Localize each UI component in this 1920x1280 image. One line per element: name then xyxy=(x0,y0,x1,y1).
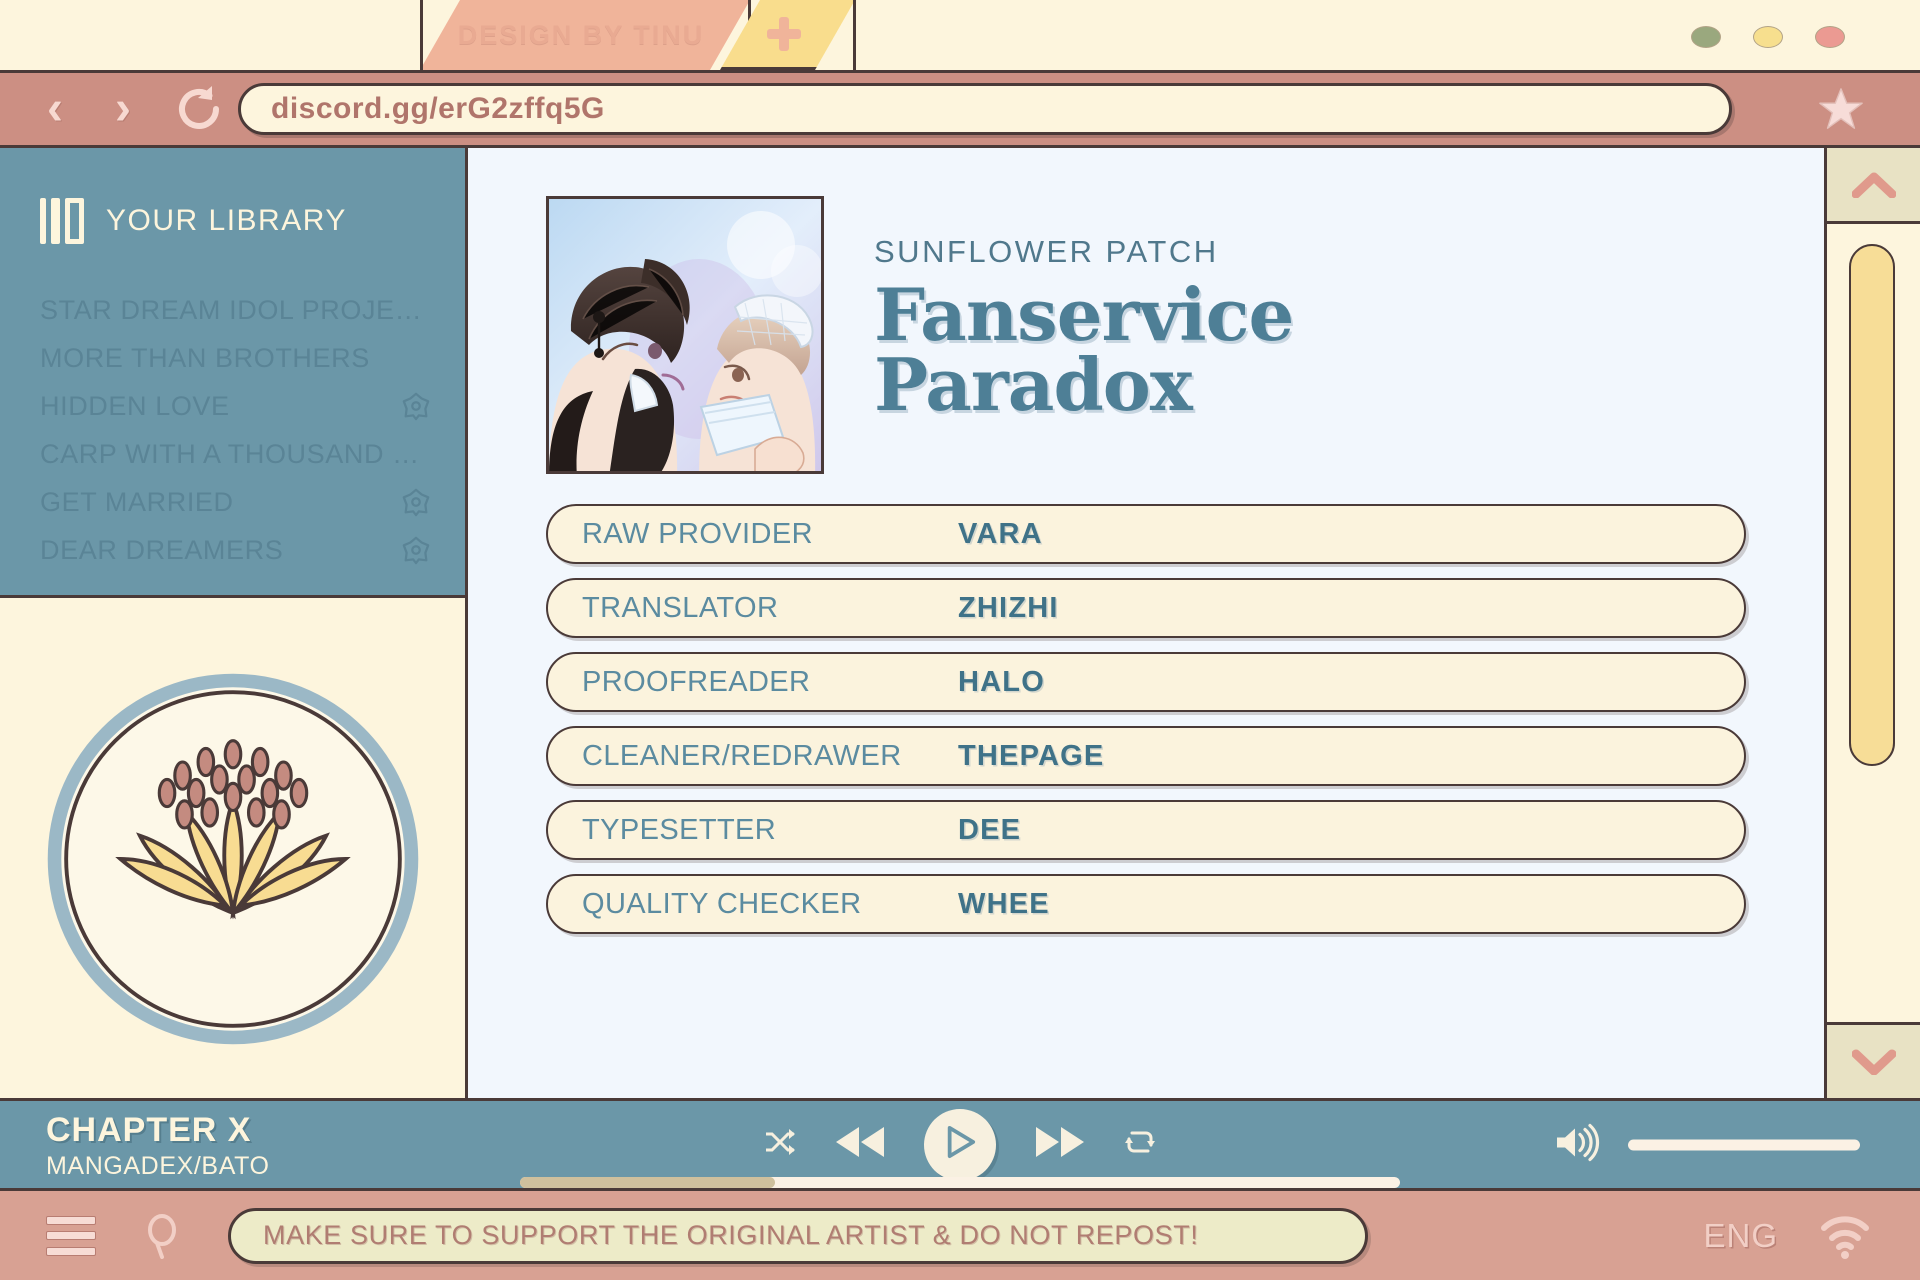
credits-list: RAW PROVIDER VARA TRANSLATOR ZHIZHI PROO… xyxy=(468,474,1824,934)
tab-divider-left xyxy=(420,0,423,70)
credit-role: PROOFREADER xyxy=(548,666,958,699)
flower-icon xyxy=(401,391,431,421)
sidebar-item-label: MORE THAN BROTHERS xyxy=(40,343,370,374)
navigation-bar: ‹ › discord.gg/erG2zffq5G xyxy=(0,70,1920,148)
credit-row[interactable]: TYPESETTER DEE xyxy=(546,800,1746,860)
volume-control[interactable] xyxy=(1554,1123,1860,1166)
reload-icon[interactable] xyxy=(174,84,224,134)
credit-row[interactable]: TRANSLATOR ZHIZHI xyxy=(546,578,1746,638)
close-button[interactable] xyxy=(1815,26,1845,48)
credit-name: DEE xyxy=(958,814,1021,847)
cover-art xyxy=(546,196,824,474)
chapter-title: CHAPTER X xyxy=(46,1111,270,1150)
tab-design-by-tinu[interactable]: DESIGN BY TINU xyxy=(420,0,750,70)
now-playing: CHAPTER X MANGADEX/BATO xyxy=(46,1111,270,1181)
sunflower-logo xyxy=(39,665,427,1053)
progress-track[interactable] xyxy=(520,1177,1400,1188)
sidebar-item-label: CARP WITH A THOUSAND E... xyxy=(40,439,431,470)
window-controls xyxy=(1691,26,1845,48)
library-header: YOUR LIBRARY xyxy=(0,198,465,244)
scroll-up-button[interactable] xyxy=(1827,148,1920,224)
footer-bar: MAKE SURE TO SUPPORT THE ORIGINAL ARTIST… xyxy=(0,1188,1920,1280)
credit-role: QUALITY CHECKER xyxy=(548,888,958,921)
back-button[interactable]: ‹ xyxy=(38,85,72,133)
volume-slider[interactable] xyxy=(1628,1139,1860,1150)
library-list: STAR DREAM IDOL PROJECT MORE THAN BROTHE… xyxy=(0,286,465,574)
credit-row[interactable]: PROOFREADER HALO xyxy=(546,652,1746,712)
page-title: Fanservice Paradox xyxy=(874,280,1293,420)
playback-controls xyxy=(764,1109,1156,1181)
language-selector[interactable]: ENG xyxy=(1703,1217,1778,1255)
sidebar-item-label: DEAR DREAMERS xyxy=(40,535,283,566)
library-icon xyxy=(40,198,84,244)
scroll-down-button[interactable] xyxy=(1827,1022,1920,1098)
credit-role: TRANSLATOR xyxy=(548,592,958,625)
progress-fill xyxy=(520,1177,775,1188)
body-region: YOUR LIBRARY STAR DREAM IDOL PROJECT MOR… xyxy=(0,148,1920,1098)
chevron-up-icon xyxy=(1852,172,1896,198)
shuffle-button[interactable] xyxy=(764,1126,796,1163)
library-panel: YOUR LIBRARY STAR DREAM IDOL PROJECT MOR… xyxy=(0,148,465,598)
volume-icon[interactable] xyxy=(1554,1123,1600,1166)
forward-button[interactable]: › xyxy=(106,85,140,133)
notice-text: MAKE SURE TO SUPPORT THE ORIGINAL ARTIST… xyxy=(263,1220,1198,1251)
sidebar-item-star-dream-idol-project[interactable]: STAR DREAM IDOL PROJECT xyxy=(40,286,431,334)
play-button[interactable] xyxy=(924,1109,996,1181)
title-line-2: Paradox xyxy=(874,350,1293,420)
url-text: discord.gg/erG2zffq5G xyxy=(271,92,605,126)
tab-strip: DESIGN BY TINU xyxy=(0,0,1920,70)
series-info: SUNFLOWER PATCH Fanservice Paradox xyxy=(874,196,1293,474)
credit-name: WHEE xyxy=(958,888,1050,921)
browser-window: DESIGN BY TINU ‹ › discord.gg/erG2zffq5G xyxy=(0,0,1920,1280)
sidebar-item-dear-dreamers[interactable]: DEAR DREAMERS xyxy=(40,526,431,574)
credit-name: THEPAGE xyxy=(958,740,1104,773)
notice-banner[interactable]: MAKE SURE TO SUPPORT THE ORIGINAL ARTIST… xyxy=(228,1208,1368,1264)
play-icon xyxy=(944,1125,976,1164)
title-line-1: Fanservice xyxy=(874,280,1293,350)
scrollbar[interactable] xyxy=(1824,148,1920,1098)
hamburger-icon[interactable] xyxy=(46,1216,96,1256)
wifi-icon[interactable] xyxy=(1818,1212,1872,1260)
credit-name: ZHIZHI xyxy=(958,592,1059,625)
credit-role: TYPESETTER xyxy=(548,814,958,847)
sidebar-item-more-than-brothers[interactable]: MORE THAN BROTHERS xyxy=(40,334,431,382)
progress-bar[interactable] xyxy=(0,1177,1920,1188)
flower-icon xyxy=(401,487,431,517)
previous-button[interactable] xyxy=(834,1125,886,1164)
sidebar-item-label: HIDDEN LOVE xyxy=(40,391,230,422)
address-bar[interactable]: discord.gg/erG2zffq5G xyxy=(238,83,1732,135)
credit-name: HALO xyxy=(958,666,1045,699)
flower-icon xyxy=(401,535,431,565)
tab-label: DESIGN BY TINU xyxy=(458,20,705,51)
star-icon[interactable] xyxy=(1818,86,1864,132)
credit-role: CLEANER/REDRAWER xyxy=(548,740,958,773)
credit-role: RAW PROVIDER xyxy=(548,518,958,551)
sidebar-item-hidden-love[interactable]: HIDDEN LOVE xyxy=(40,382,431,430)
tab-divider-right xyxy=(853,0,856,70)
credit-row[interactable]: QUALITY CHECKER WHEE xyxy=(546,874,1746,934)
search-icon[interactable] xyxy=(140,1213,184,1259)
player-bar: CHAPTER X MANGADEX/BATO xyxy=(0,1098,1920,1188)
minimize-button[interactable] xyxy=(1691,26,1721,48)
scroll-thumb[interactable] xyxy=(1849,244,1895,766)
sidebar-item-label: STAR DREAM IDOL PROJECT xyxy=(40,295,431,326)
credit-name: VARA xyxy=(958,518,1043,551)
scanlation-group: SUNFLOWER PATCH xyxy=(874,234,1293,270)
credit-row[interactable]: CLEANER/REDRAWER THEPAGE xyxy=(546,726,1746,786)
logo-panel xyxy=(0,598,465,1098)
library-title: YOUR LIBRARY xyxy=(106,204,347,238)
credit-row[interactable]: RAW PROVIDER VARA xyxy=(546,504,1746,564)
main-content: SUNFLOWER PATCH Fanservice Paradox RAW P… xyxy=(468,148,1824,1098)
repeat-button[interactable] xyxy=(1124,1126,1156,1163)
sidebar: YOUR LIBRARY STAR DREAM IDOL PROJECT MOR… xyxy=(0,148,468,1098)
maximize-button[interactable] xyxy=(1753,26,1783,48)
sidebar-item-get-married[interactable]: GET MARRIED xyxy=(40,478,431,526)
chevron-down-icon xyxy=(1852,1049,1896,1075)
next-button[interactable] xyxy=(1034,1125,1086,1164)
series-hero: SUNFLOWER PATCH Fanservice Paradox xyxy=(468,148,1824,474)
plus-icon xyxy=(767,17,801,51)
sidebar-item-carp-with-a-thousand-e[interactable]: CARP WITH A THOUSAND E... xyxy=(40,430,431,478)
sidebar-item-label: GET MARRIED xyxy=(40,487,234,518)
